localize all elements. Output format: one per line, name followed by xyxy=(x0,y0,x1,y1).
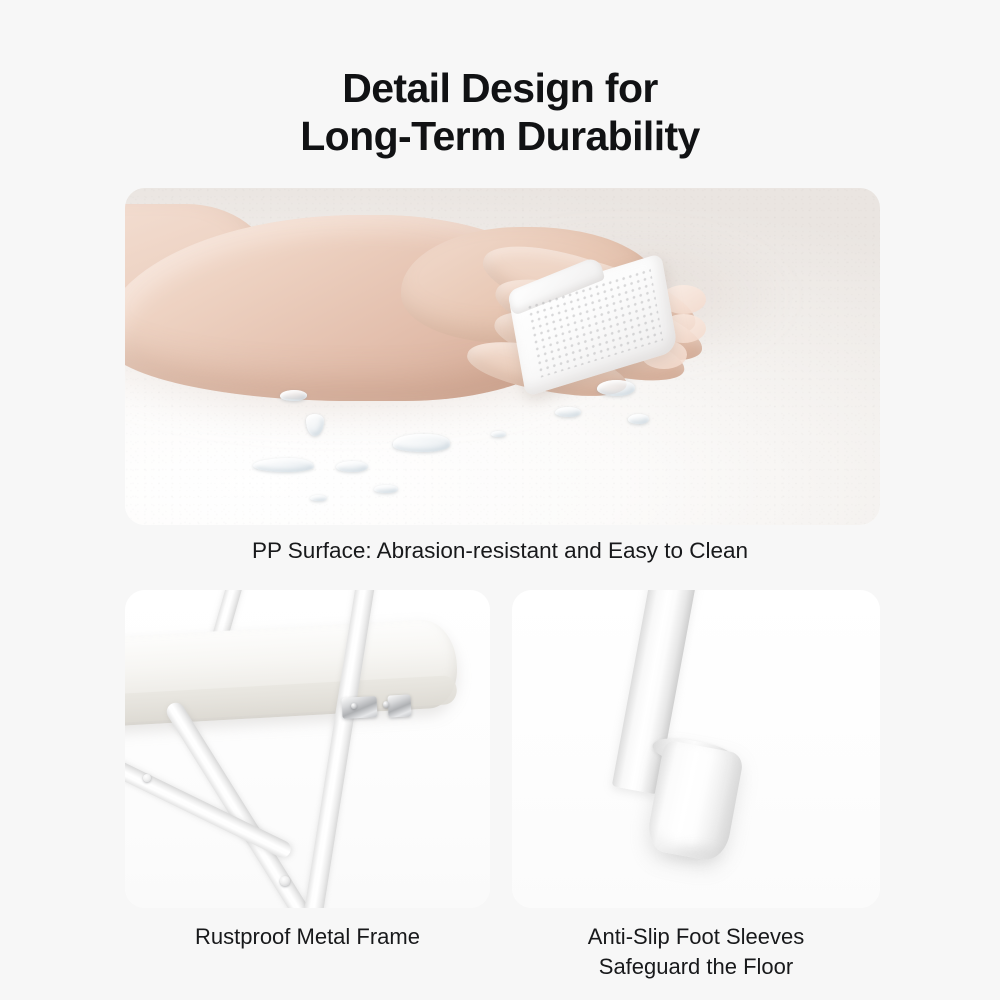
hinge-bracket-left xyxy=(342,696,378,719)
foot-sleeve-image-card xyxy=(512,590,880,908)
foot-sleeve-caption-line-2: Safeguard the Floor xyxy=(512,952,880,982)
foot-sleeve-photo xyxy=(512,590,880,908)
page-title: Detail Design for Long-Term Durability xyxy=(0,64,1000,160)
metal-frame-photo xyxy=(125,590,490,908)
hinge-rivet xyxy=(351,703,356,709)
pp-surface-photo xyxy=(125,188,880,525)
water-droplet xyxy=(253,458,313,472)
water-droplet xyxy=(310,495,327,501)
water-droplet xyxy=(555,407,581,417)
pp-surface-caption: PP Surface: Abrasion-resistant and Easy … xyxy=(100,536,900,566)
metal-frame-image-card xyxy=(125,590,490,908)
water-droplet xyxy=(336,461,368,472)
frame-joint-rivet xyxy=(280,876,289,886)
water-droplet xyxy=(393,434,450,452)
page-title-line-2: Long-Term Durability xyxy=(0,112,1000,160)
water-droplet xyxy=(628,414,649,424)
hinge-rivet xyxy=(383,701,389,708)
water-droplet xyxy=(491,431,506,437)
infographic-page: Detail Design for Long-Term Durability xyxy=(0,0,1000,1000)
page-title-line-1: Detail Design for xyxy=(0,64,1000,112)
hinge-bracket-right xyxy=(387,694,411,717)
foot-sleeve-shadow xyxy=(644,841,740,866)
metal-frame-caption: Rustproof Metal Frame xyxy=(125,922,490,952)
foot-sleeve-caption: Anti-Slip Foot Sleeves Safeguard the Flo… xyxy=(512,922,880,982)
foot-sleeve-caption-line-1: Anti-Slip Foot Sleeves xyxy=(588,924,804,949)
water-droplet xyxy=(280,390,307,401)
pp-surface-image-card xyxy=(125,188,880,525)
water-droplet xyxy=(597,380,635,396)
